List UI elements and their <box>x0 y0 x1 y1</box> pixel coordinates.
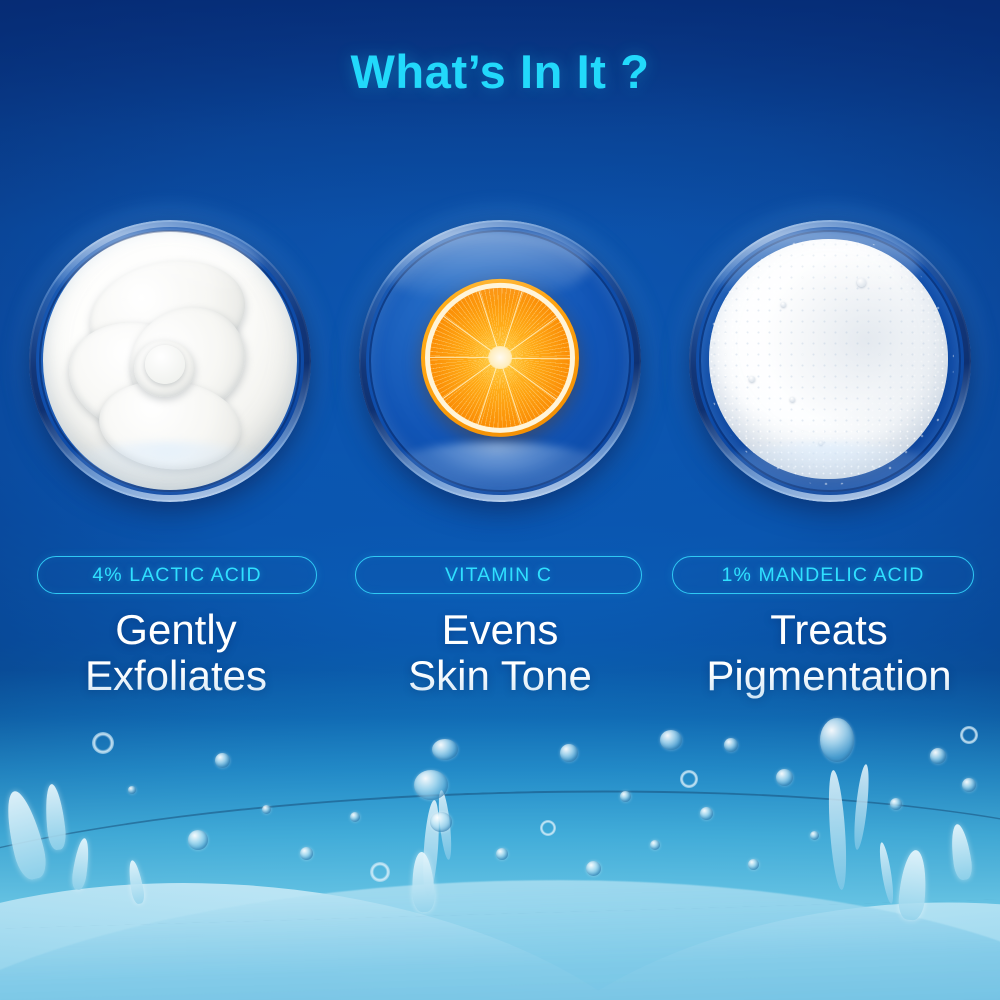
background-top-shade <box>0 0 1000 230</box>
benefit-line-1: Evens <box>340 607 660 653</box>
page-title: What’s In It ? <box>0 44 1000 99</box>
ingredient-pill-row: 4% LACTIC ACID VITAMIN C 1% MANDELIC ACI… <box>0 556 1000 594</box>
benefit-line-1: Gently <box>16 607 336 653</box>
water-splash-graphic <box>0 670 1000 1000</box>
pill-vitamin-c[interactable]: VITAMIN C <box>355 556 642 594</box>
ingredient-dish-vitamin-c <box>346 203 654 518</box>
benefit-line-1: Treats <box>664 607 994 653</box>
orange-slice-icon <box>421 278 579 436</box>
glass-dish <box>689 220 971 502</box>
cream-icon <box>43 231 297 490</box>
ingredient-dish-row <box>0 203 1000 518</box>
ingredient-dish-mandelic-acid <box>676 203 984 518</box>
ingredient-dish-lactic-acid <box>16 203 324 518</box>
pill-lactic-acid[interactable]: 4% LACTIC ACID <box>37 556 317 594</box>
glass-dish <box>359 220 641 502</box>
infographic-page: What’s In It ? <box>0 0 1000 1000</box>
pill-mandelic-acid[interactable]: 1% MANDELIC ACID <box>672 556 974 594</box>
glass-dish <box>29 220 311 502</box>
